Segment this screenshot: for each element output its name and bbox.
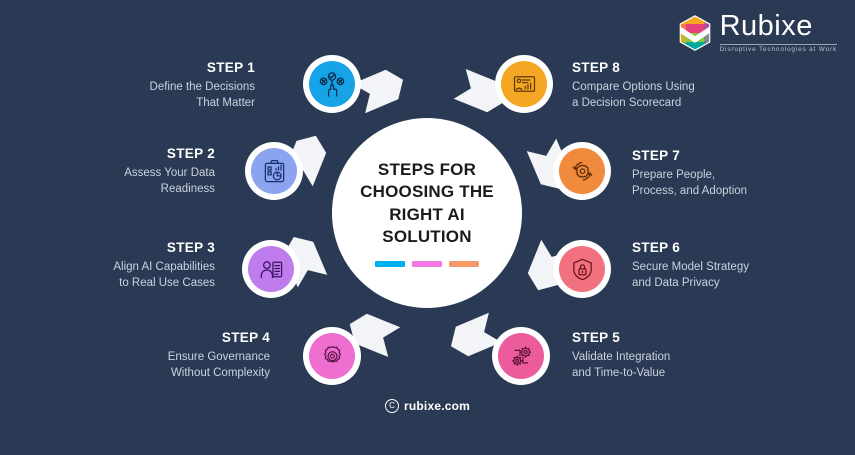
step-icon-circle-6 <box>559 246 605 292</box>
step-title-8: STEP 8 <box>572 60 822 76</box>
footer-site: rubixe.com <box>404 399 470 413</box>
step-node-8[interactable] <box>495 55 553 113</box>
step-title-2: STEP 2 <box>0 146 215 162</box>
shield-lock-icon <box>570 257 595 282</box>
step-node-4[interactable] <box>303 327 361 385</box>
brand-logo: Rubixe Disruptive Technologies at Work <box>677 12 837 53</box>
center-hub: STEPS FOR CHOOSING THE RIGHT AI SOLUTION <box>332 118 522 308</box>
step-desc-7: Prepare People, Process, and Adoption <box>632 168 855 199</box>
scorecard-icon <box>512 72 537 97</box>
step-icon-circle-7 <box>559 148 605 194</box>
step-desc-1: Define the Decisions That Matter <box>35 80 255 111</box>
step-text-6: STEP 6 Secure Model Strategy and Data Pr… <box>632 240 855 291</box>
copyright-icon: C <box>385 399 399 413</box>
brand-tagline: Disruptive Technologies at Work <box>720 47 837 53</box>
step-text-2: STEP 2 Assess Your Data Readiness <box>0 146 215 197</box>
step-title-7: STEP 7 <box>632 148 855 164</box>
step-title-5: STEP 5 <box>572 330 812 346</box>
dual-gears-icon <box>509 344 534 369</box>
step-desc-4: Ensure Governance Without Complexity <box>40 350 270 381</box>
hub-title: STEPS FOR CHOOSING THE RIGHT AI SOLUTION <box>352 159 502 249</box>
step-desc-5: Validate Integration and Time-to-Value <box>572 350 812 381</box>
step-node-6[interactable] <box>553 240 611 298</box>
step-icon-circle-5 <box>498 333 544 379</box>
step-text-7: STEP 7 Prepare People, Process, and Adop… <box>632 148 855 199</box>
brand-text: Rubixe Disruptive Technologies at Work <box>720 12 837 53</box>
step-title-1: STEP 1 <box>35 60 255 76</box>
step-node-7[interactable] <box>553 142 611 200</box>
step-desc-8: Compare Options Using a Decision Scoreca… <box>572 80 822 111</box>
step-icon-circle-1 <box>309 61 355 107</box>
rubixe-cube-logo-icon <box>677 15 713 51</box>
accent-bar-1 <box>375 261 405 267</box>
step-desc-3: Align AI Capabilities to Real Use Cases <box>0 260 215 291</box>
step-title-6: STEP 6 <box>632 240 855 256</box>
step-desc-6: Secure Model Strategy and Data Privacy <box>632 260 855 291</box>
step-icon-circle-2 <box>251 148 297 194</box>
accent-bar-2 <box>412 261 442 267</box>
hub-accent-bars <box>375 261 479 267</box>
step-text-1: STEP 1 Define the Decisions That Matter <box>35 60 255 111</box>
infographic-canvas: Rubixe Disruptive Technologies at Work <box>0 0 855 455</box>
step-node-3[interactable] <box>242 240 300 298</box>
brand-name: Rubixe <box>720 12 813 41</box>
decision-hand-icon <box>319 71 345 97</box>
brand-divider <box>720 44 837 45</box>
step-text-5: STEP 5 Validate Integration and Time-to-… <box>572 330 812 381</box>
clipboard-chart-icon <box>262 159 287 184</box>
footer: C rubixe.com <box>0 399 855 413</box>
gear-governance-icon <box>320 344 345 369</box>
step-node-2[interactable] <box>245 142 303 200</box>
gear-cycle-icon <box>570 159 595 184</box>
user-document-icon <box>259 257 284 282</box>
step-node-1[interactable] <box>303 55 361 113</box>
step-node-5[interactable] <box>492 327 550 385</box>
step-text-3: STEP 3 Align AI Capabilities to Real Use… <box>0 240 215 291</box>
step-icon-circle-8 <box>501 61 547 107</box>
step-icon-circle-4 <box>309 333 355 379</box>
step-text-4: STEP 4 Ensure Governance Without Complex… <box>40 330 270 381</box>
accent-bar-3 <box>449 261 479 267</box>
step-title-3: STEP 3 <box>0 240 215 256</box>
step-icon-circle-3 <box>248 246 294 292</box>
step-desc-2: Assess Your Data Readiness <box>0 166 215 197</box>
step-text-8: STEP 8 Compare Options Using a Decision … <box>572 60 822 111</box>
step-title-4: STEP 4 <box>40 330 270 346</box>
